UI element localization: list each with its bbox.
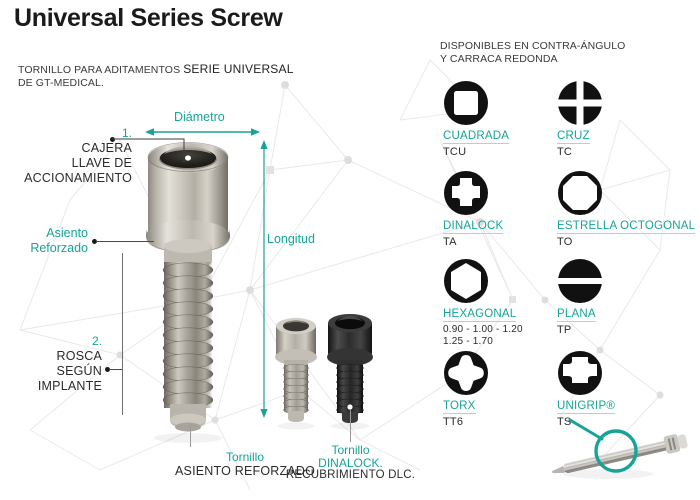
drive-name-estrella-octogonal: ESTRELLA OCTOGONAL [557,220,695,234]
drive-name-unigrip: UNIGRIP® [557,400,615,414]
callout-asiento-line-1: Asiento [10,226,88,241]
cross-drive-icon [557,80,603,126]
drive-code-dinalock: TA [443,236,553,248]
drive-name-cruz: CRUZ [557,130,590,144]
intro-line-2: DE GT-MEDICAL. [18,77,294,90]
callout-rosca-line-3: IMPLANTE [10,379,102,394]
callout-rosca-leader [109,369,123,370]
drives-panel-heading-line-2: Y CARRACA REDONDA [440,53,625,66]
length-label: Longitud [267,232,315,246]
octagon-drive-icon [557,170,603,216]
callout-asiento: Asiento Reforzado [10,226,88,256]
drive-code-cruz: TC [557,146,667,158]
drive-item-dinalock[interactable]: DINALOCK TA [443,170,553,248]
callout-rosca-line-1: ROSCA [10,349,102,364]
dinalock-drive-icon [443,170,489,216]
drives-panel-heading: DISPONIBLES EN CONTRA-ÁNGULO Y CARRACA R… [440,40,625,65]
intro-block: TORNILLO PARA ADITAMENTOS SERIE UNIVERSA… [18,63,294,90]
flat-drive-icon [557,258,603,304]
caption-dinalock-teal-2: DINALOCK. [268,457,433,470]
small-screw-steel-illustration [268,310,324,430]
intro-line-1-small: TORNILLO PARA ADITAMENTOS [18,64,180,76]
caption-dinalock-leader [350,410,351,442]
drive-code-hexagonal: 0.90 - 1.00 - 1.20 1.25 - 1.70 [443,324,553,348]
drive-item-plana[interactable]: PLANA TP [557,258,667,336]
callout-asiento-leader [96,241,154,242]
poster-root: Universal Series Screw TORNILLO PARA ADI… [0,0,700,500]
main-screw-illustration [130,128,260,448]
drive-name-torx: TORX [443,400,476,414]
page-title: Universal Series Screw [14,4,283,33]
drive-name-hexagonal: HEXAGONAL [443,308,516,322]
caption-dinalock-teal-1: Tornillo [268,444,433,457]
drive-name-cuadrada: CUADRADA [443,130,509,144]
intro-line-1-series: SERIE UNIVERSAL [183,62,293,76]
caption-dinalock-dark: RECUBRIMIENTO DLC. [268,469,433,482]
callout-rosca-bracket [122,253,123,415]
drive-item-cruz[interactable]: CRUZ TC [557,80,667,158]
callout-rosca: 2. ROSCA SEGÚN IMPLANTE [10,334,102,394]
drive-item-estrella-octogonal[interactable]: ESTRELLA OCTOGONAL TO [557,170,667,248]
caption-dinalock: Tornillo DINALOCK. RECUBRIMIENTO DLC. [268,444,433,482]
callout-cajera-leader [112,132,194,164]
drive-code-plana: TP [557,324,667,336]
drive-item-cuadrada[interactable]: CUADRADA TCU [443,80,553,158]
diameter-label: Diámetro [174,110,225,124]
drives-panel-heading-line-1: DISPONIBLES EN CONTRA-ÁNGULO [440,40,625,53]
square-drive-icon [443,80,489,126]
length-arrow [258,140,270,418]
drive-code-cuadrada: TCU [443,146,553,158]
callout-rosca-line-2: SEGÚN [10,364,102,379]
drive-name-plana: PLANA [557,308,596,322]
callout-asiento-line-2: Reforzado [10,241,88,256]
callout-cajera-line-3: ACCIONAMIENTO [10,171,132,186]
unigrip-drive-icon [557,350,603,396]
caption-asiento-leader [190,425,191,447]
drive-item-hexagonal[interactable]: HEXAGONAL 0.90 - 1.00 - 1.20 1.25 - 1.70 [443,258,553,348]
callout-rosca-number: 2. [10,334,102,349]
drive-item-torx[interactable]: TORX TT6 [443,350,553,428]
hex-drive-icon [443,258,489,304]
drive-item-unigrip[interactable]: UNIGRIP® TS [557,350,667,428]
drive-name-dinalock: DINALOCK [443,220,503,234]
drive-code-estrella-octogonal: TO [557,236,667,248]
drive-code-torx: TT6 [443,416,553,428]
intro-line-1: TORNILLO PARA ADITAMENTOS SERIE UNIVERSA… [18,63,294,77]
unigrip-screwdriver-illustration [548,418,700,490]
torx-drive-icon [443,350,489,396]
